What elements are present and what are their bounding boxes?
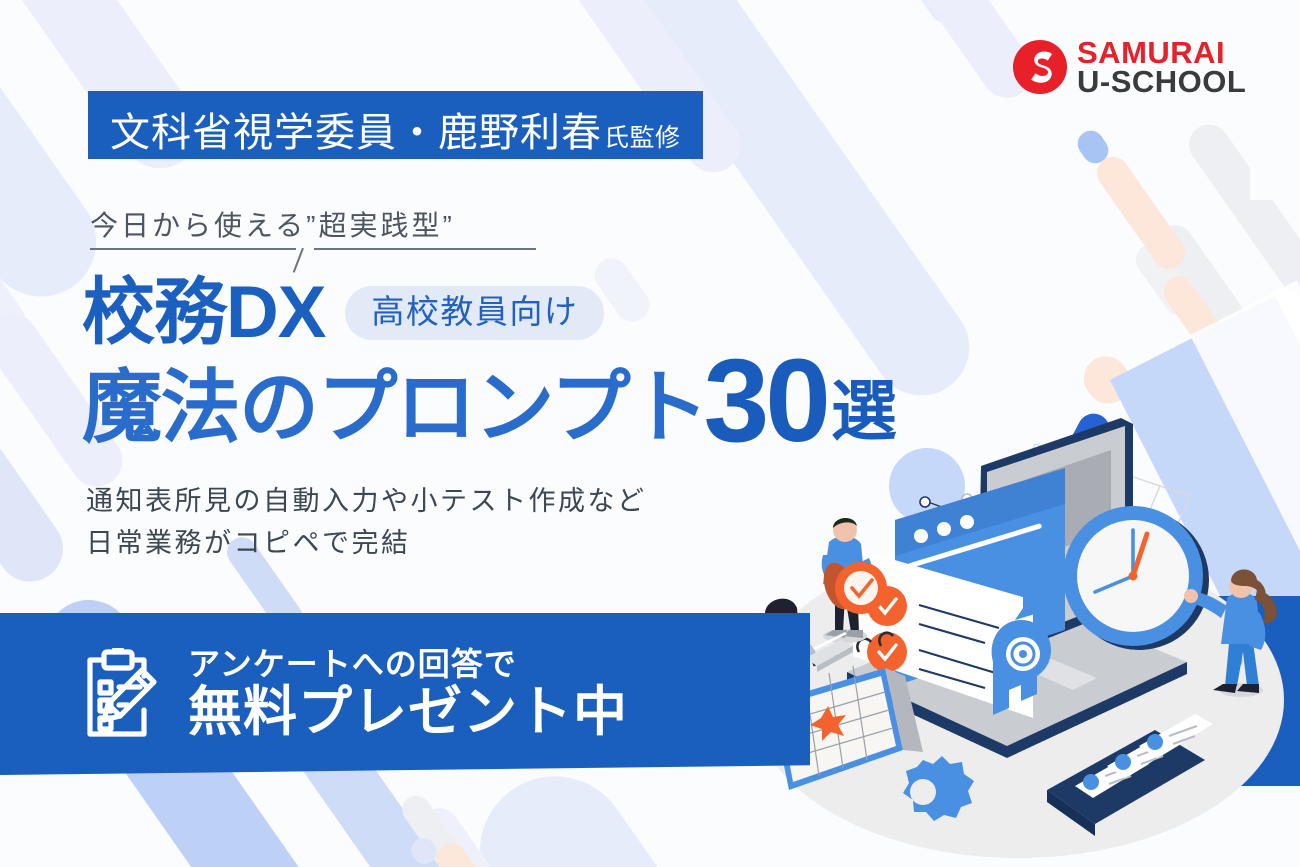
promotional-banner: SAMURAI U-SCHOOL 文科省視学委員・鹿野利春 氏監修 今日から使え…	[0, 0, 1300, 867]
supervisor-name: 文科省視学委員・鹿野利春	[110, 100, 602, 158]
headline-line-1: 校務DX 高校教員向け	[82, 276, 604, 349]
clipboard-pencil-icon	[78, 648, 162, 740]
audience-pill-badge: 高校教員向け	[345, 286, 604, 340]
headline-keyword-prompts: 魔法のプロンプト	[82, 366, 708, 451]
school-dx-illustration	[735, 400, 1300, 867]
supervisor-badge: 文科省視学委員・鹿野利春 氏監修	[88, 91, 703, 159]
lede-line-2: 日常業務がコピペで完結	[86, 523, 647, 565]
lede-line-1: 通知表所見の自動入力や小テスト作成など	[86, 481, 647, 523]
cta-headline: 無料プレゼント中	[188, 684, 628, 741]
eyebrow-block: 今日から使える”超実践型”	[90, 204, 560, 270]
supervisor-role: 氏監修	[604, 118, 681, 154]
headline-keyword-komu-dx: 校務DX	[82, 276, 325, 349]
logo-text-secondary: U-SCHOOL	[1077, 67, 1246, 96]
bg-navy-block	[1250, 140, 1300, 200]
cta-bar[interactable]: アンケートへの回答で 無料プレゼント中	[0, 613, 810, 775]
samurai-s-mark-icon	[1012, 39, 1068, 95]
lede-block: 通知表所見の自動入力や小テスト作成など 日常業務がコピペで完結	[86, 481, 647, 565]
cta-subtext: アンケートへの回答で	[188, 647, 628, 682]
eyebrow-text: 今日から使える”超実践型”	[90, 204, 560, 244]
brand-logo[interactable]: SAMURAI U-SCHOOL	[1012, 34, 1252, 100]
logo-text-primary: SAMURAI	[1077, 38, 1246, 67]
eyebrow-underline	[90, 248, 535, 270]
